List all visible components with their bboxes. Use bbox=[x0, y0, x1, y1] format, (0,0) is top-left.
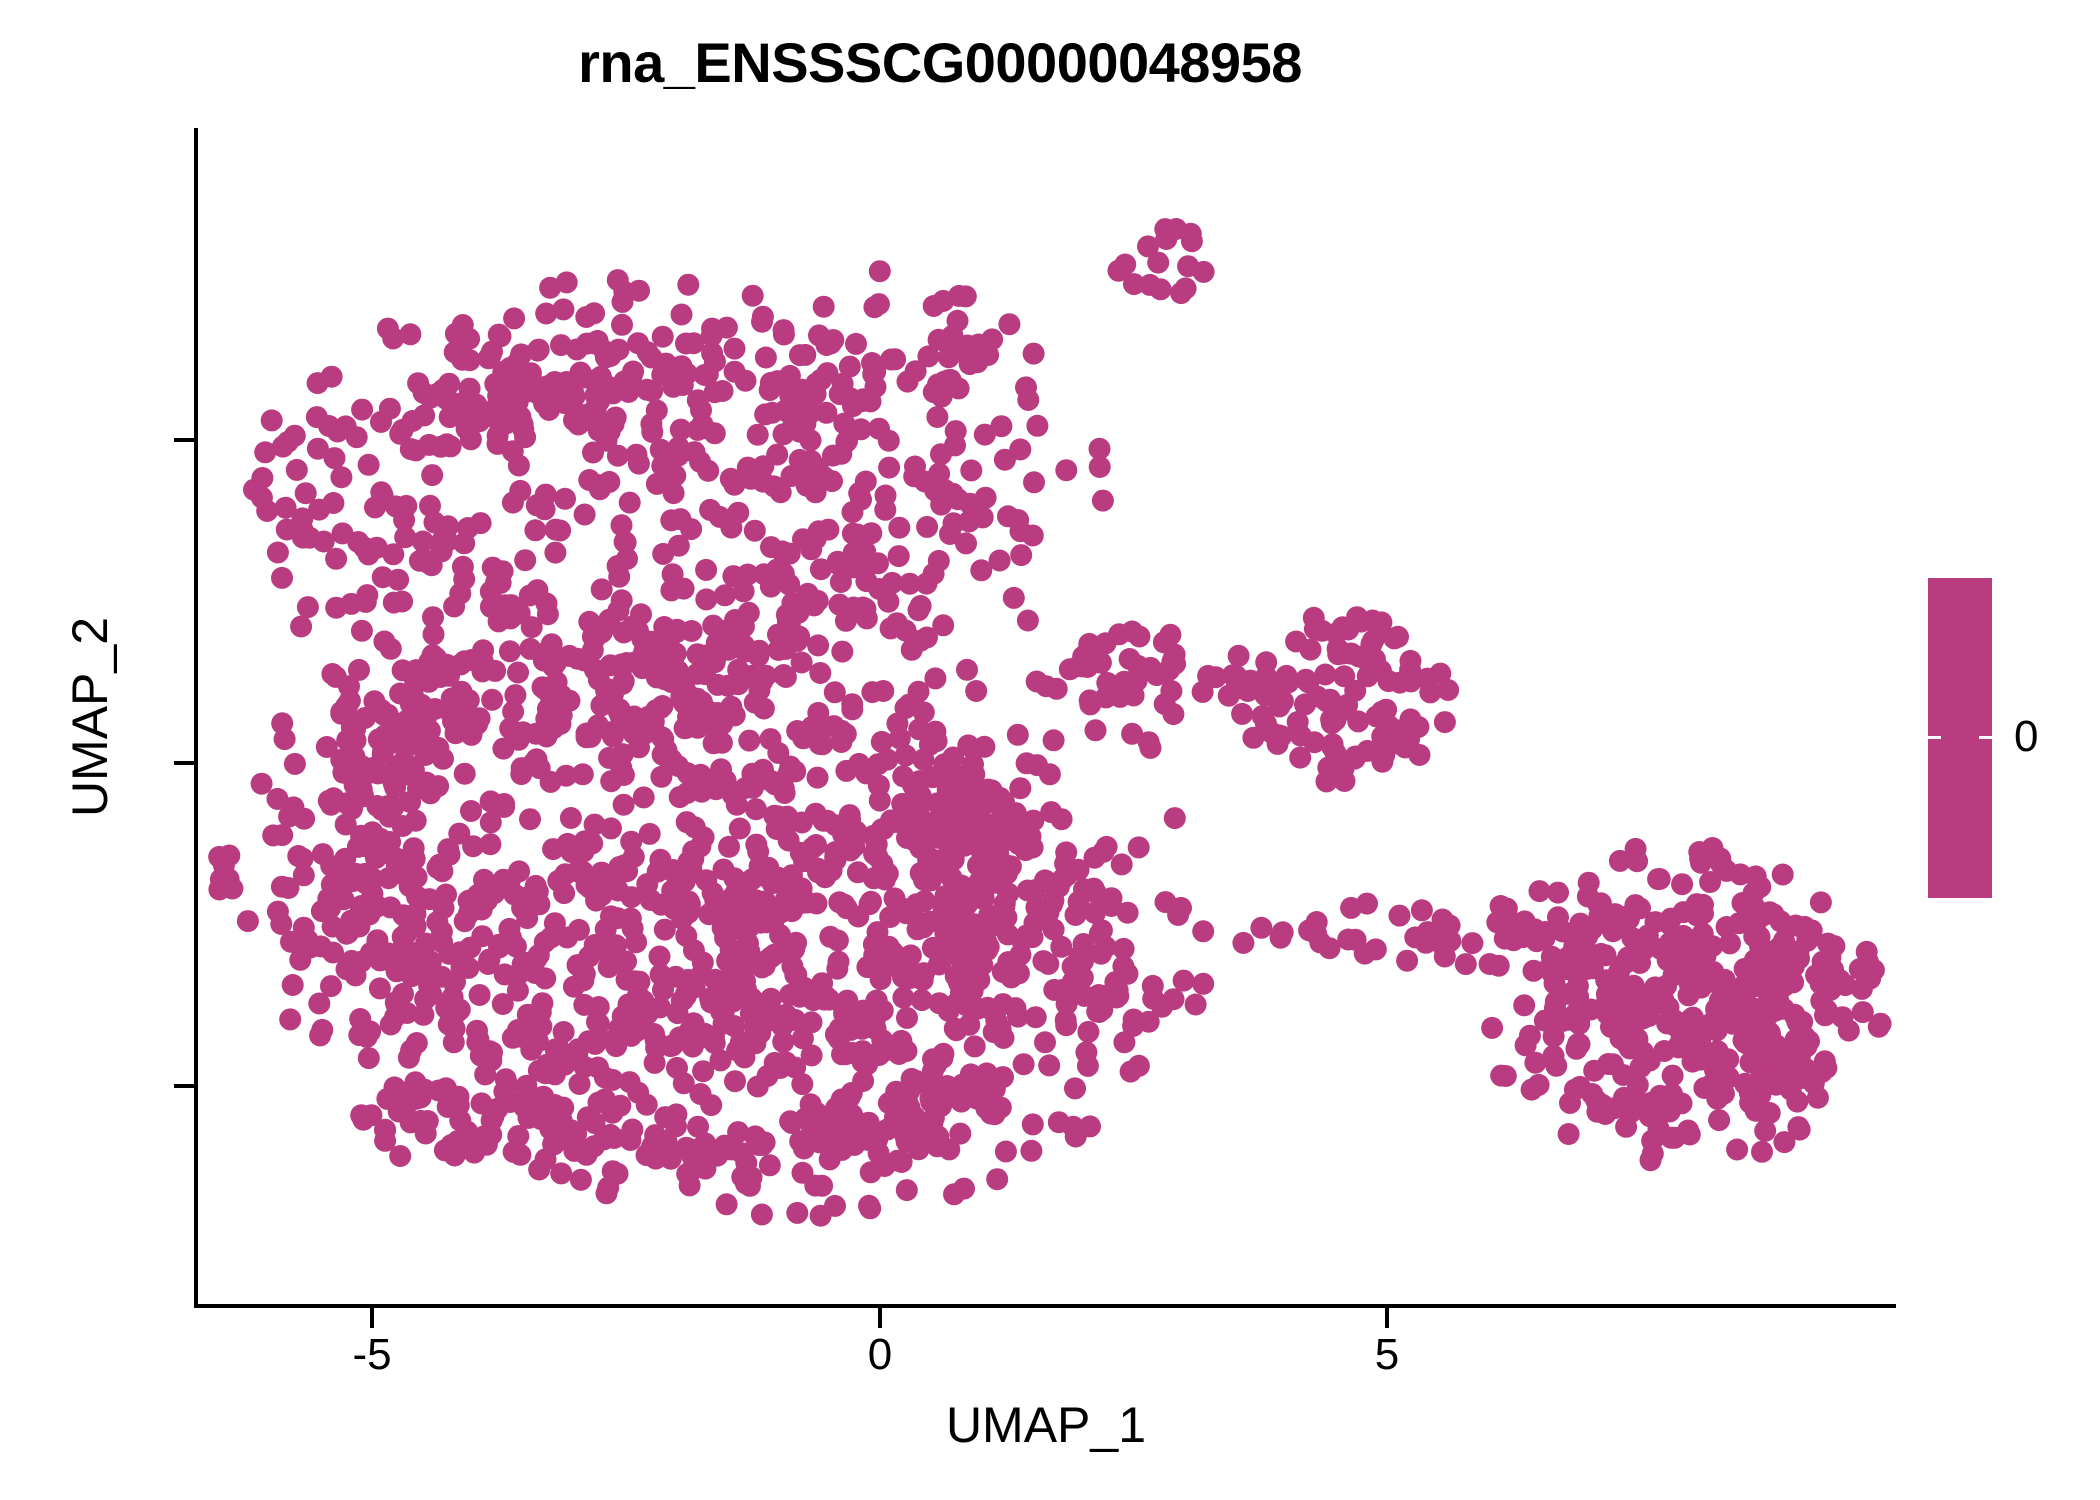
x-tick-mark--5 bbox=[370, 1308, 374, 1328]
x-axis-label: UMAP_1 bbox=[196, 1396, 1896, 1454]
legend-value-label: 0 bbox=[2014, 712, 2038, 762]
umap-feature-plot: rna_ENSSSCG00000048958 4 0 -4 -5 0 5 UMA… bbox=[0, 0, 2100, 1500]
y-tick-mark--4 bbox=[174, 1084, 194, 1088]
legend-colorbar[interactable] bbox=[1928, 578, 1992, 898]
scatter-points-layer bbox=[196, 128, 1896, 1308]
y-axis-label: UMAP_2 bbox=[61, 317, 119, 1117]
x-axis-line bbox=[194, 1304, 1896, 1308]
x-tick-mark-5 bbox=[1385, 1308, 1389, 1328]
x-tick-label-0: 0 bbox=[780, 1330, 980, 1380]
legend[interactable]: 0 bbox=[1928, 578, 2088, 918]
x-tick-mark-0 bbox=[878, 1308, 882, 1328]
page-title: rna_ENSSSCG00000048958 bbox=[0, 30, 1880, 95]
x-tick-label--5: -5 bbox=[272, 1330, 472, 1380]
y-tick-mark-4 bbox=[174, 438, 194, 442]
legend-tick-right bbox=[1979, 736, 1992, 739]
plot-panel[interactable] bbox=[196, 128, 1896, 1308]
y-axis-line bbox=[194, 128, 198, 1308]
legend-tick-left bbox=[1928, 736, 1941, 739]
x-tick-label-5: 5 bbox=[1287, 1330, 1487, 1380]
y-tick-mark-0 bbox=[174, 761, 194, 765]
